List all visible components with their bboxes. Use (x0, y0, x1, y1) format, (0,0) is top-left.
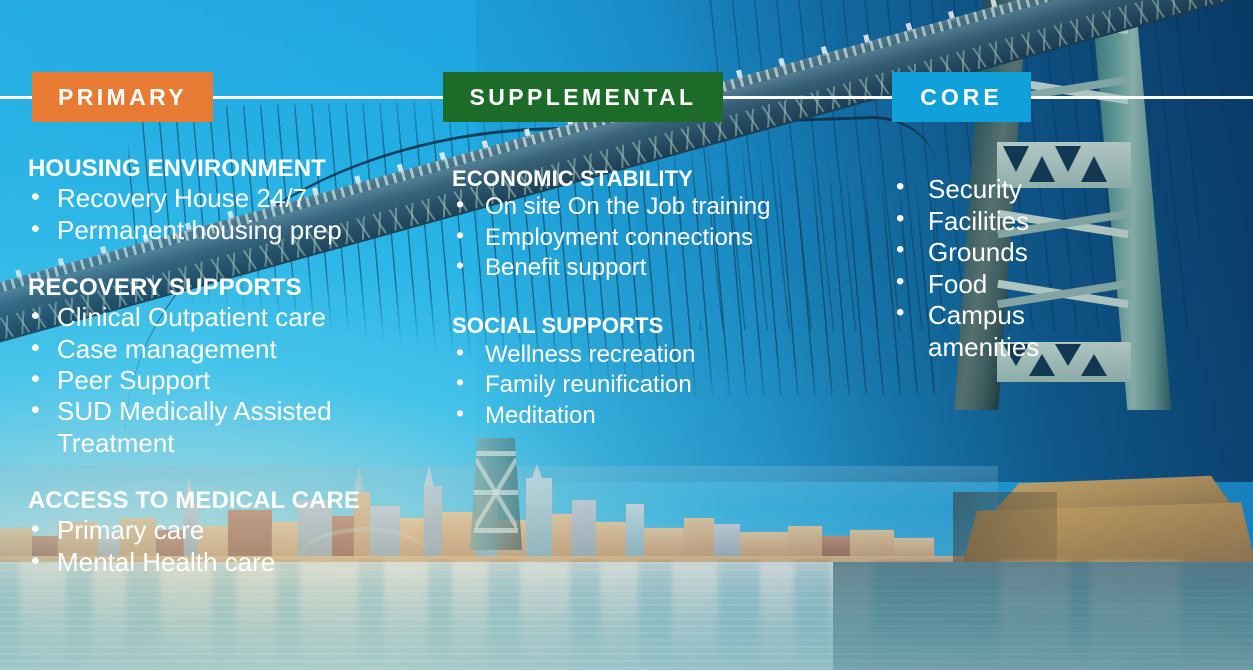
spacer (28, 246, 408, 274)
list-social-supports: Wellness recreation Family reunification… (452, 340, 827, 431)
section-heading-recovery-supports: RECOVERY SUPPORTS (28, 274, 408, 301)
list-item: Food (890, 269, 1140, 301)
section-heading-housing-environment: HOUSING ENVIRONMENT (28, 155, 408, 182)
section-heading-social-supports: SOCIAL SUPPORTS (452, 313, 827, 338)
list-item: Grounds (890, 237, 1140, 269)
list-item: Security (890, 174, 1140, 206)
section-heading-access-to-medical-care: ACCESS TO MEDICAL CARE (28, 487, 408, 514)
list-item: Clinical Outpatient care (28, 302, 408, 333)
list-item: Facilities (890, 206, 1140, 238)
section-heading-economic-stability: ECONOMIC STABILITY (452, 166, 827, 191)
badge-primary: PRIMARY (32, 72, 213, 122)
column-core: Security Facilities Grounds Food Campus … (890, 174, 1140, 363)
list-item: On site On the Job training (452, 192, 827, 222)
list-item: Peer Support (28, 365, 408, 396)
list-recovery-supports: Clinical Outpatient care Case management… (28, 302, 408, 459)
list-item: Mental Health care (28, 547, 408, 578)
list-item: Case management (28, 334, 408, 365)
list-item: Recovery House 24/7 (28, 183, 408, 214)
list-access-to-medical-care: Primary care Mental Health care (28, 515, 408, 578)
slide-content: PRIMARY SUPPLEMENTAL CORE HOUSING ENVIRO… (0, 0, 1253, 670)
column-primary: HOUSING ENVIRONMENT Recovery House 24/7 … (28, 155, 408, 578)
list-item: Wellness recreation (452, 340, 827, 370)
spacer (28, 459, 408, 487)
list-item: Primary care (28, 515, 408, 546)
list-housing-environment: Recovery House 24/7 Permanent housing pr… (28, 183, 408, 246)
column-supplemental: ECONOMIC STABILITY On site On the Job tr… (452, 166, 827, 431)
slide-root: PRIMARY SUPPLEMENTAL CORE HOUSING ENVIRO… (0, 0, 1253, 670)
list-item: Meditation (452, 401, 827, 431)
list-item: Permanent housing prep (28, 215, 408, 246)
spacer (452, 283, 827, 313)
list-item: SUD Medically Assisted Treatment (28, 396, 408, 459)
list-item: Family reunification (452, 370, 827, 400)
badge-supplemental: SUPPLEMENTAL (443, 72, 723, 122)
badge-core: CORE (892, 72, 1031, 122)
list-economic-stability: On site On the Job training Employment c… (452, 192, 827, 283)
list-item: Benefit support (452, 253, 827, 283)
list-core: Security Facilities Grounds Food Campus … (890, 174, 1140, 363)
list-item: Employment connections (452, 223, 827, 253)
list-item: Campus amenities (890, 300, 1140, 363)
